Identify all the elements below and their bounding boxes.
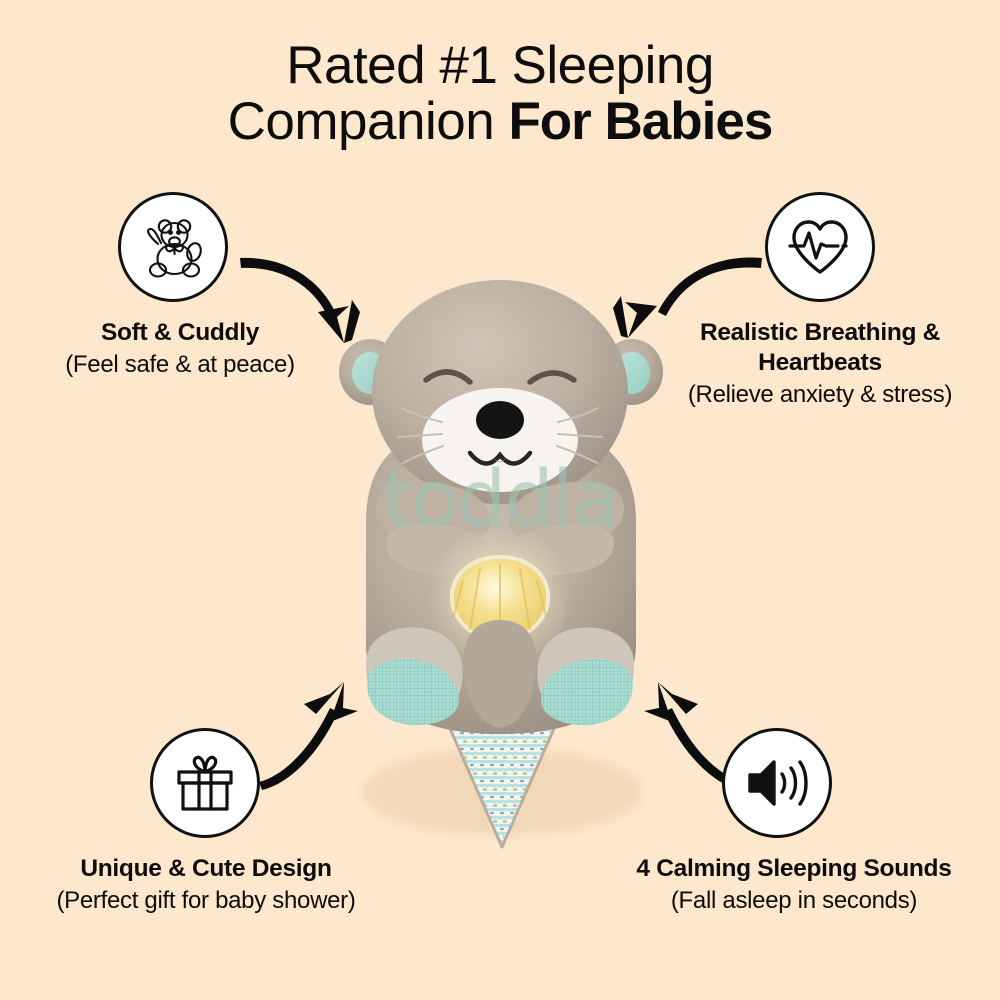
- feature-subtitle: (Relieve anxiety & stress): [640, 380, 1000, 409]
- feature-title: Realistic Breathing & Heartbeats: [640, 318, 1000, 378]
- feature-calming-sounds: 4 Calming Sleeping Sounds (Fall asleep i…: [588, 728, 1000, 915]
- feature-subtitle: (Fall asleep in seconds): [588, 886, 1000, 915]
- gift-box-icon: [172, 750, 238, 816]
- feature-icon-badge: [722, 728, 832, 838]
- feature-subtitle: (Feel safe & at peace): [0, 350, 360, 379]
- feature-soft-cuddly: Soft & Cuddly (Feel safe & at peace): [0, 192, 360, 379]
- feature-unique-design: Unique & Cute Design (Perfect gift for b…: [0, 728, 412, 915]
- feature-title: Unique & Cute Design: [0, 854, 412, 884]
- heart-pulse-icon: [786, 213, 854, 281]
- teddy-bear-icon: [136, 210, 210, 284]
- feature-title: 4 Calming Sleeping Sounds: [588, 854, 1000, 884]
- feature-subtitle: (Perfect gift for baby shower): [0, 886, 412, 915]
- feature-icon-badge: [118, 192, 228, 302]
- speaker-volume-icon: [744, 750, 810, 816]
- page-title: Rated #1 Sleeping Companion For Babies: [0, 38, 1000, 150]
- feature-icon-badge: [765, 192, 875, 302]
- feature-breathing-heartbeat: Realistic Breathing & Heartbeats (Reliev…: [640, 192, 1000, 409]
- headline-line-2: Companion For Babies: [0, 94, 1000, 150]
- headline-line-1: Rated #1 Sleeping: [0, 38, 1000, 94]
- headline-line-2-bold: For Babies: [508, 92, 772, 151]
- infographic-canvas: Rated #1 Sleeping Companion For Babies: [0, 0, 1000, 1000]
- feature-icon-badge: [150, 728, 260, 838]
- headline-line-2-regular: Companion: [228, 92, 509, 151]
- feature-title: Soft & Cuddly: [0, 318, 360, 348]
